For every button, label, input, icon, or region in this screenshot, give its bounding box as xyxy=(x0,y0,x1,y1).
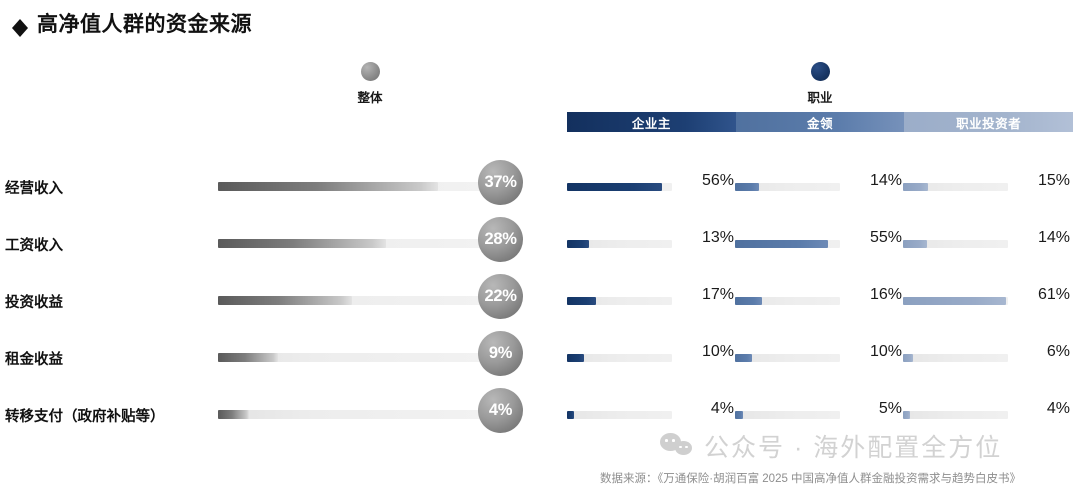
occupation-value-label: 14% xyxy=(846,172,902,190)
overall-bar-fill xyxy=(218,239,386,248)
watermark: 公众号 · 海外配置全方位 xyxy=(660,428,1002,464)
table-row: 经营收入37%56%14%15% xyxy=(0,160,1080,217)
column-header-gold-collar[interactable]: 金领 xyxy=(736,112,905,132)
column-header-entrepreneur[interactable]: 企业主 xyxy=(567,112,736,132)
overall-value-bubble: 37% xyxy=(478,160,523,205)
occupation-cell-professional-investor: 14% xyxy=(903,235,1070,253)
occupation-cell-entrepreneur: 4% xyxy=(567,406,734,424)
mini-bar-fill xyxy=(567,183,662,191)
legend-overall: 整体 xyxy=(325,62,415,106)
occupation-cell-gold-collar: 5% xyxy=(735,406,902,424)
occupation-cell-entrepreneur: 17% xyxy=(567,292,734,310)
wechat-icon xyxy=(660,433,694,459)
overall-value-bubble: 4% xyxy=(478,388,523,433)
overall-value-bubble: 28% xyxy=(478,217,523,262)
mini-bar-fill xyxy=(735,297,762,305)
mini-bar-track xyxy=(735,297,840,305)
occupation-value-label: 17% xyxy=(678,286,734,304)
page-title-text: 高净值人群的资金来源 xyxy=(37,8,252,38)
mini-bar-track xyxy=(735,354,840,362)
occupation-cell-professional-investor: 4% xyxy=(903,406,1070,424)
occupation-value-label: 10% xyxy=(678,343,734,361)
mini-bar-fill xyxy=(903,240,927,248)
overall-value-bubble: 9% xyxy=(478,331,523,376)
occupation-cell-entrepreneur: 56% xyxy=(567,178,734,196)
legend-occupation-label: 职业 xyxy=(775,87,865,106)
mini-bar-track xyxy=(903,297,1008,305)
occupation-value-label: 6% xyxy=(1014,343,1070,361)
page-title: 高净值人群的资金来源 xyxy=(12,8,252,38)
mini-bar-fill xyxy=(735,183,759,191)
row-label: 投资收益 xyxy=(5,291,63,312)
overall-bar-track xyxy=(218,410,490,419)
occupation-column-header: 企业主 金领 职业投资者 xyxy=(567,112,1073,132)
occupation-cell-professional-investor: 61% xyxy=(903,292,1070,310)
table-row: 租金收益9%10%10%6% xyxy=(0,331,1080,388)
occupation-cell-gold-collar: 16% xyxy=(735,292,902,310)
watermark-text: 公众号 · 海外配置全方位 xyxy=(704,428,1002,464)
legend-overall-label: 整体 xyxy=(325,87,415,106)
mini-bar-track xyxy=(903,240,1008,248)
overall-bar-fill xyxy=(218,353,278,362)
mini-bar-fill xyxy=(735,411,743,419)
overall-bar xyxy=(218,296,490,305)
mini-bar-track xyxy=(735,411,840,419)
row-label: 经营收入 xyxy=(5,177,63,198)
mini-bar-fill xyxy=(903,183,928,191)
occupation-cell-gold-collar: 14% xyxy=(735,178,902,196)
mini-bar-track xyxy=(735,183,840,191)
mini-bar-fill xyxy=(735,354,752,362)
overall-bar xyxy=(218,353,490,362)
occupation-value-label: 16% xyxy=(846,286,902,304)
source-note: 数据来源：《万通保险·胡润百富 2025 中国高净值人群金融投资需求与趋势白皮书… xyxy=(600,470,1021,486)
legend-overall-dot-icon xyxy=(361,62,380,81)
mini-bar-fill xyxy=(903,297,1006,305)
mini-bar-track xyxy=(567,297,672,305)
overall-bar-fill xyxy=(218,296,352,305)
mini-bar-track xyxy=(903,354,1008,362)
occupation-cell-gold-collar: 10% xyxy=(735,349,902,367)
occupation-cell-entrepreneur: 10% xyxy=(567,349,734,367)
mini-bar-track xyxy=(567,411,672,419)
diamond-bullet-icon xyxy=(12,11,28,28)
occupation-value-label: 56% xyxy=(678,172,734,190)
mini-bar-track xyxy=(735,240,840,248)
table-row: 工资收入28%13%55%14% xyxy=(0,217,1080,274)
occupation-value-label: 5% xyxy=(846,400,902,418)
occupation-cell-professional-investor: 15% xyxy=(903,178,1070,196)
overall-bar xyxy=(218,182,490,191)
row-label: 转移支付（政府补贴等） xyxy=(5,405,165,426)
table-row: 投资收益22%17%16%61% xyxy=(0,274,1080,331)
overall-bar-fill xyxy=(218,182,438,191)
mini-bar-track xyxy=(567,183,672,191)
row-label: 租金收益 xyxy=(5,348,63,369)
column-header-professional-investor[interactable]: 职业投资者 xyxy=(904,112,1073,132)
mini-bar-track xyxy=(903,411,1008,419)
mini-bar-fill xyxy=(903,354,913,362)
mini-bar-fill xyxy=(735,240,828,248)
chart-rows: 经营收入37%56%14%15%工资收入28%13%55%14%投资收益22%1… xyxy=(0,160,1080,445)
overall-value-bubble: 22% xyxy=(478,274,523,319)
occupation-value-label: 15% xyxy=(1014,172,1070,190)
occupation-value-label: 13% xyxy=(678,229,734,247)
mini-bar-track xyxy=(567,240,672,248)
mini-bar-fill xyxy=(903,411,910,419)
mini-bar-fill xyxy=(567,297,596,305)
row-label: 工资收入 xyxy=(5,234,63,255)
occupation-cell-entrepreneur: 13% xyxy=(567,235,734,253)
mini-bar-track xyxy=(903,183,1008,191)
occupation-value-label: 14% xyxy=(1014,229,1070,247)
slide-canvas: 高净值人群的资金来源 整体 职业 企业主 金领 职业投资者 经营收入37%56%… xyxy=(0,0,1080,494)
occupation-cell-professional-investor: 6% xyxy=(903,349,1070,367)
legend-occupation-dot-icon xyxy=(811,62,830,81)
overall-bar xyxy=(218,239,490,248)
mini-bar-fill xyxy=(567,354,584,362)
occupation-cell-gold-collar: 55% xyxy=(735,235,902,253)
occupation-value-label: 61% xyxy=(1014,286,1070,304)
mini-bar-fill xyxy=(567,240,589,248)
occupation-value-label: 4% xyxy=(1014,400,1070,418)
mini-bar-fill xyxy=(567,411,574,419)
legend-occupation: 职业 xyxy=(775,62,865,106)
occupation-value-label: 10% xyxy=(846,343,902,361)
overall-bar-fill xyxy=(218,410,249,419)
mini-bar-track xyxy=(567,354,672,362)
occupation-value-label: 55% xyxy=(846,229,902,247)
overall-bar xyxy=(218,410,490,419)
occupation-value-label: 4% xyxy=(678,400,734,418)
